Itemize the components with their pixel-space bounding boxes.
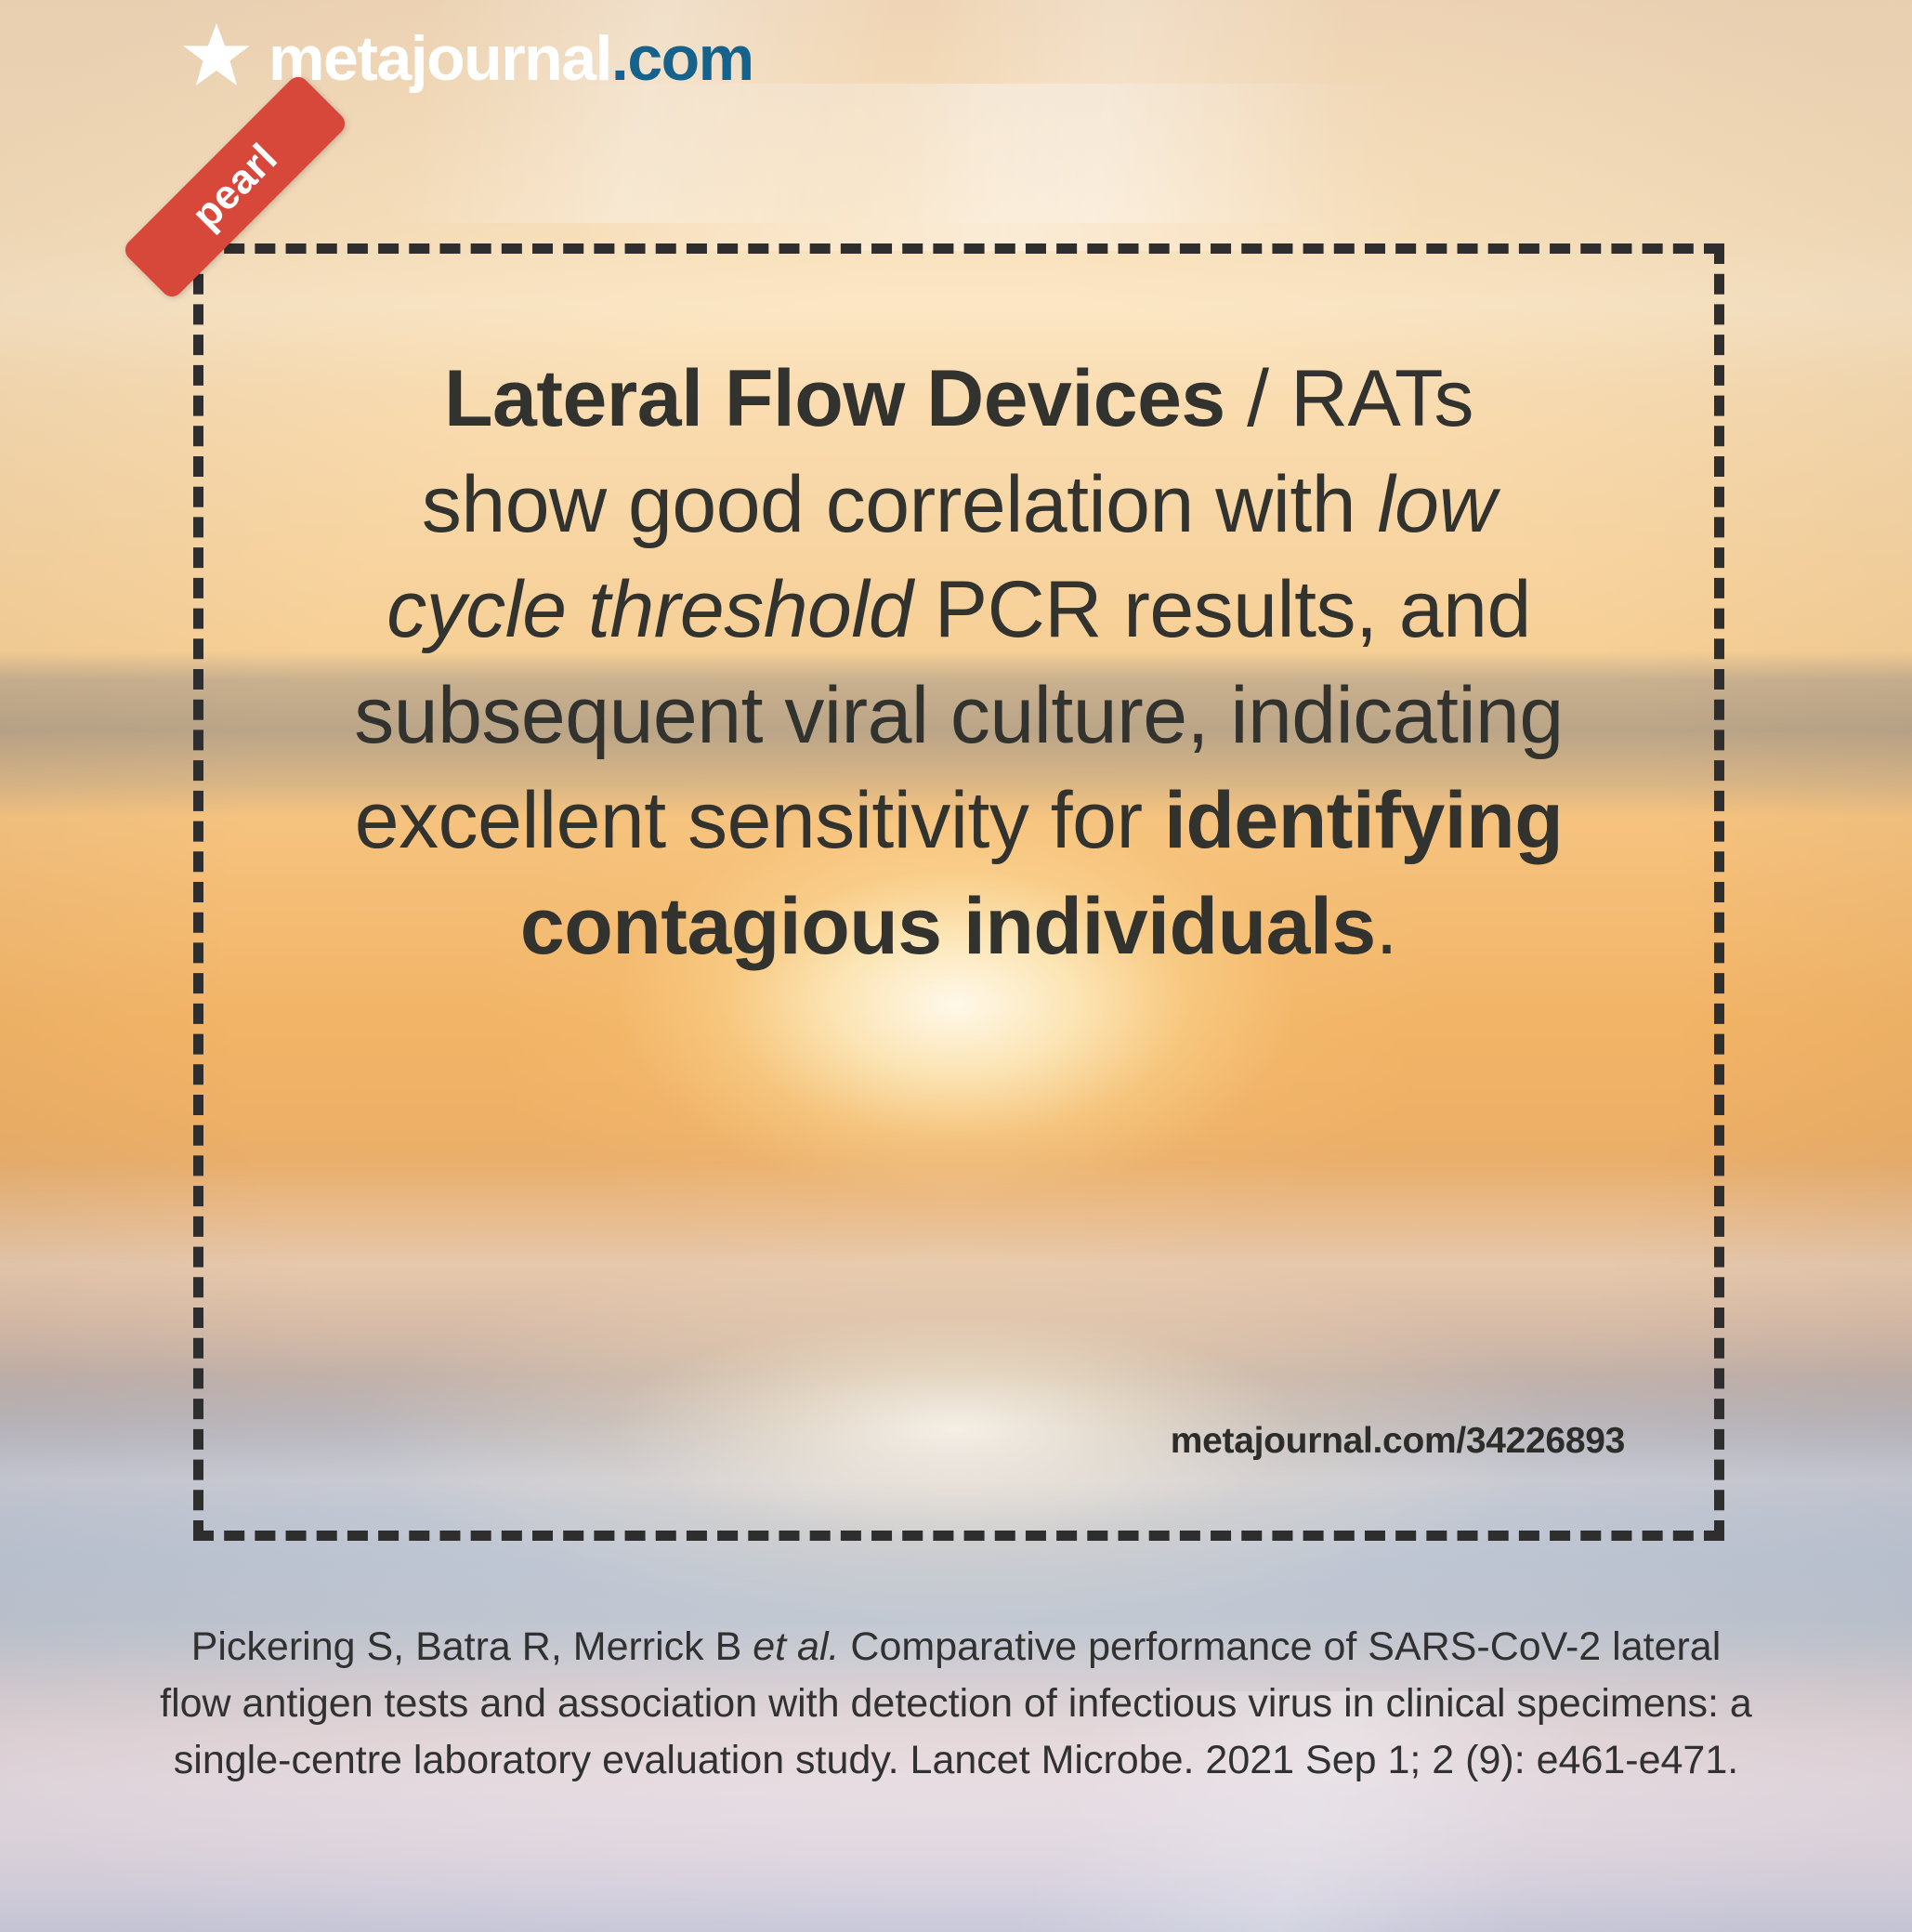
quote-line7-pre: sensitivity for: [688, 776, 1164, 865]
quote-box: Lateral Flow Devices / RATs show good co…: [193, 243, 1724, 1541]
quote-bold-phrase-1: identifying: [1164, 776, 1563, 865]
citation-authors: Pickering S, Batra R, Merrick B: [191, 1624, 753, 1669]
citation-details: 2021 Sep 1; 2 (9): e461-e471.: [1194, 1738, 1738, 1782]
citation-journal: Lancet Microbe.: [899, 1738, 1195, 1782]
citation: Pickering S, Batra R, Merrick B et al. C…: [158, 1619, 1754, 1789]
brand-tld: .com: [611, 23, 753, 94]
quote-line5: subsequent viral culture,: [354, 671, 1209, 760]
source-url[interactable]: metajournal.com/34226893: [1171, 1421, 1625, 1462]
quote-slash: /: [1225, 354, 1290, 443]
quote-line3-pre: with: [1215, 460, 1377, 549]
star-icon: [181, 20, 252, 96]
quote-bold-phrase-2: contagious individuals: [520, 882, 1376, 971]
brand-wordmark: metajournal.com: [268, 27, 753, 90]
brand-name: metajournal: [268, 23, 611, 94]
quote-heading-bold: Lateral Flow Devices: [444, 354, 1225, 443]
quote-line4: PCR results, and: [935, 565, 1531, 654]
pearl-card: metajournal.com pearl Lateral Flow Devic…: [0, 0, 1912, 1932]
brand-logo[interactable]: metajournal.com: [181, 20, 753, 96]
quote-text: Lateral Flow Devices / RATs show good co…: [343, 347, 1575, 979]
quote-period: .: [1376, 882, 1397, 971]
citation-et-al: et al.: [753, 1624, 839, 1669]
